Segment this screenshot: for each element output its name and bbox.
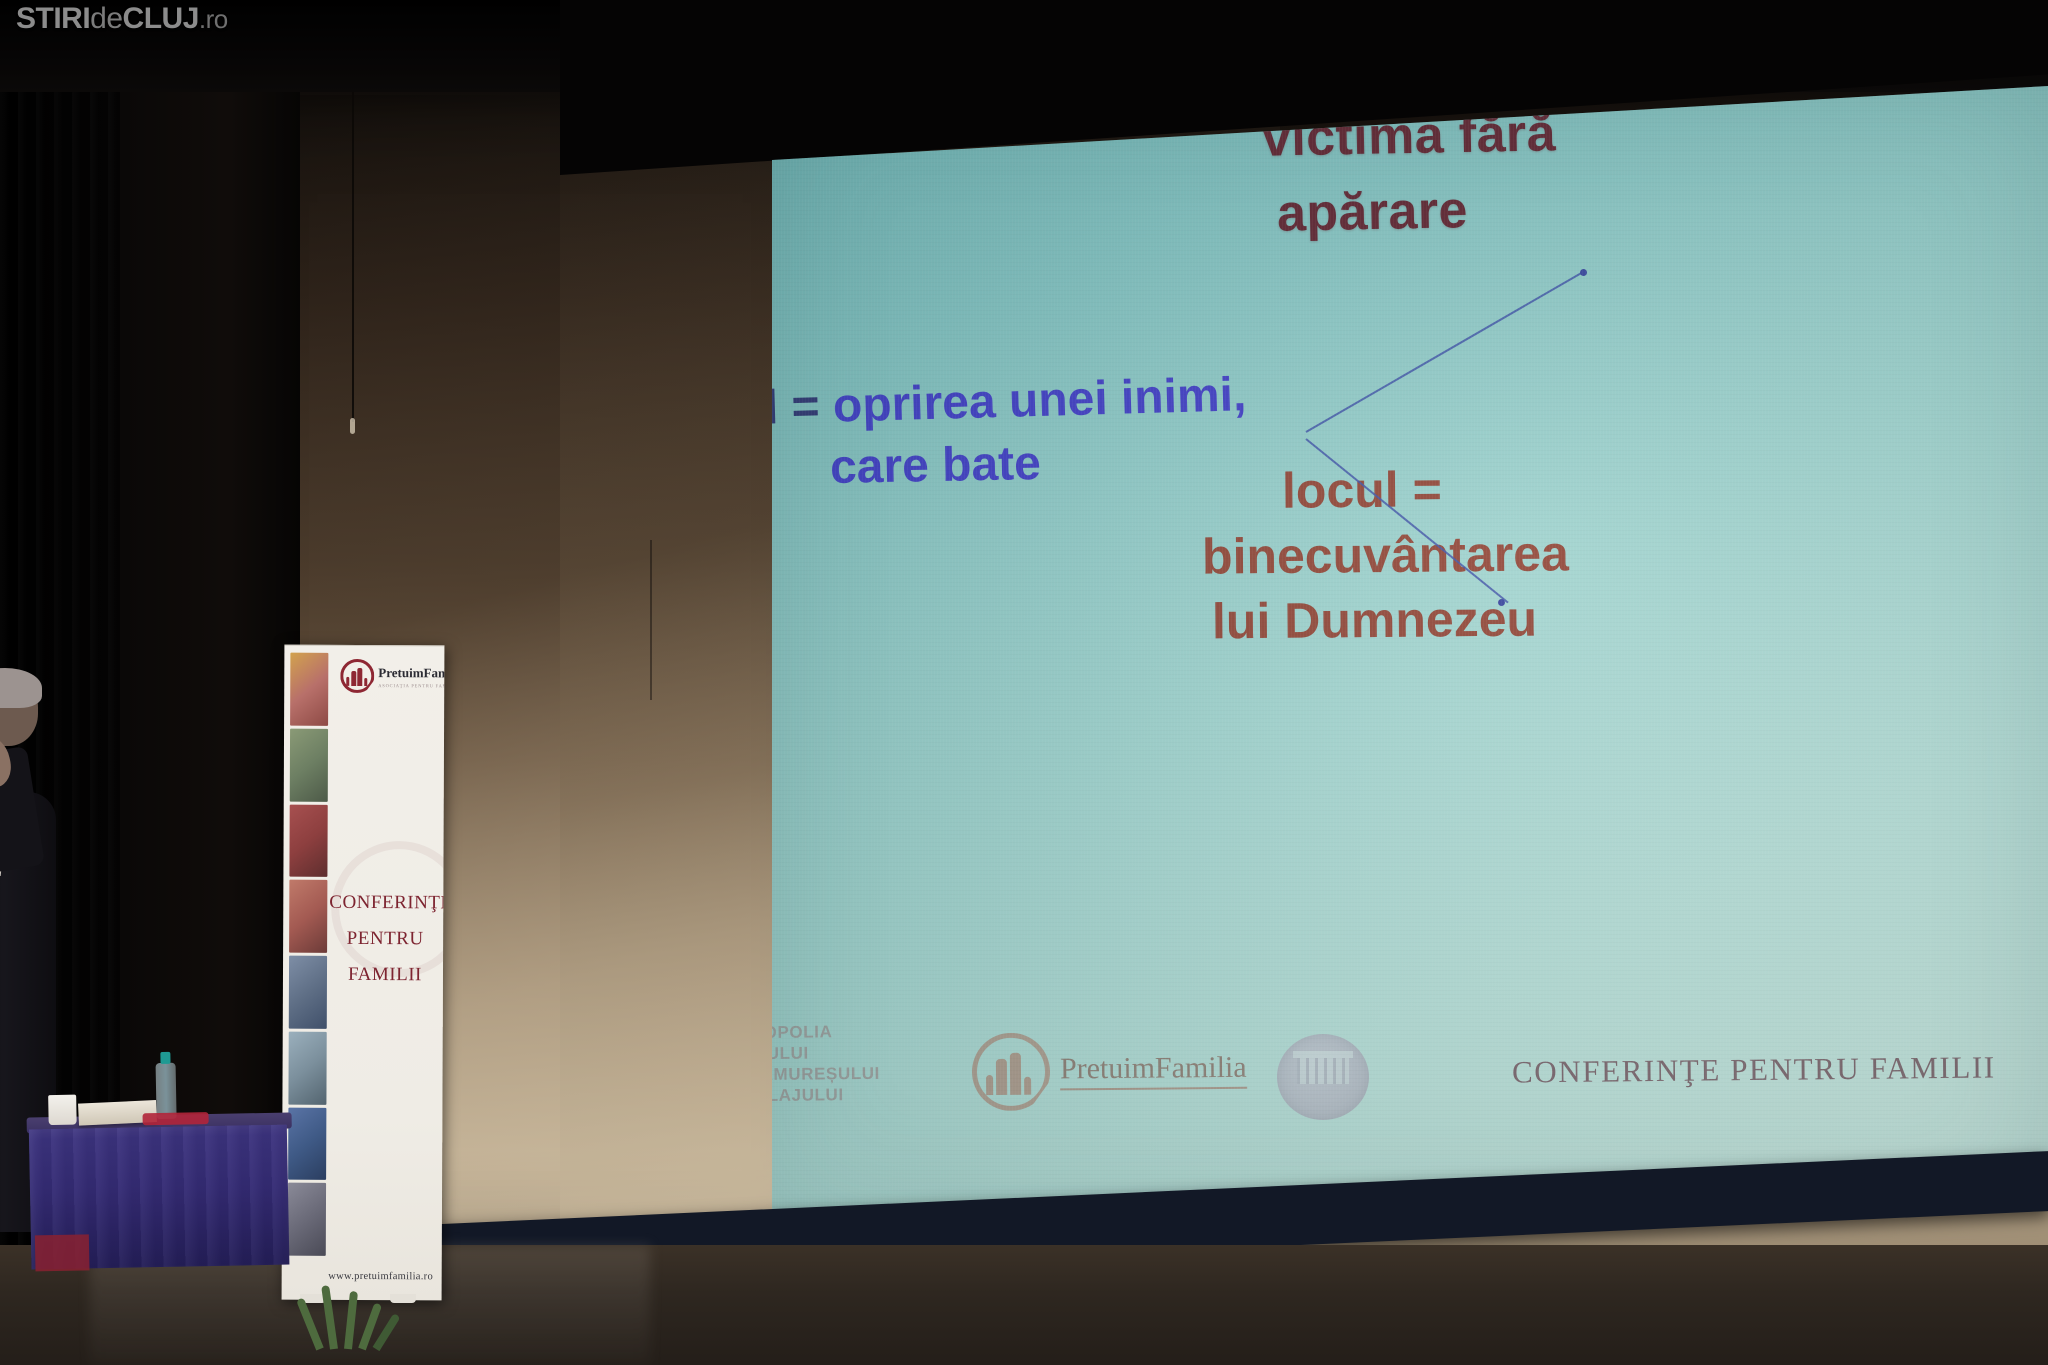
pretuim-familia-logo-slide: PretuimFamilia: [972, 1031, 1247, 1111]
family-circle-icon: [972, 1033, 1051, 1112]
speaker-hair: [0, 668, 42, 708]
table-red-skirt: [35, 1234, 90, 1271]
hanging-cord-2: [272, 96, 274, 292]
banner-photo: [290, 653, 328, 726]
banner-logo-subtitle: ASOCIAŢIA PENTRU FAMILII: [378, 683, 444, 688]
connector-dot-down: [1498, 599, 1505, 606]
banner-logo-wordmark: PretuimFamilia: [378, 665, 444, 680]
table-water-bottle: [156, 1063, 177, 1119]
table-red-item: [143, 1112, 209, 1125]
banner-photo: [289, 956, 327, 1029]
slide-main-line1-predicate: oprirea unei inimi,: [832, 368, 1247, 433]
presenter-table: [27, 1112, 295, 1269]
connector-dot-up: [1580, 269, 1587, 276]
seal-icon: [1277, 1034, 1369, 1120]
banner-photo: [289, 880, 327, 953]
banner-title-line-3: FAMILII: [329, 957, 441, 994]
banner-photo-strip: [288, 653, 329, 1256]
watermark-part-2: de: [90, 2, 122, 35]
watermark-part-4: .ro: [199, 4, 228, 34]
banner-photo: [288, 1031, 326, 1104]
banner-photo: [289, 804, 327, 877]
slide-branch-bottom-line1: locul =: [1282, 460, 1442, 519]
hanging-cord-1: [352, 92, 354, 422]
banner-logo-text-group: PretuimFamilia ASOCIAŢIA PENTRU FAMILII: [378, 664, 444, 688]
site-watermark: STIRIdeCLUJ.ro: [16, 2, 228, 36]
watermark-part-3: CLUJ: [123, 2, 199, 35]
slide-branch-bottom-line3: lui Dumnezeu: [1212, 590, 1538, 651]
banner-family-circle-icon: [340, 659, 374, 693]
connector-line-up: [1306, 271, 1584, 433]
hanging-cord-tip-1: [350, 418, 355, 434]
slide-branch-top-line2: apărare: [1276, 180, 1468, 243]
slide-branch-bottom-line2: binecuvântarea: [1202, 524, 1569, 585]
slide-footer-caption: CONFERINŢE PENTRU FAMILII: [1512, 1049, 1996, 1090]
banner-title-line-2: PENTRU: [329, 921, 441, 958]
banner-title-line-1: CONFERINŢE: [329, 885, 441, 922]
banner-top-rail: [282, 645, 445, 647]
slide-footer: MITROPOLIA CLUJULUI MARAMUREȘULUI ȘI SĂL…: [772, 1004, 2048, 1164]
table-cup: [48, 1095, 77, 1126]
photograph-frame: victima fără apărare Avortul = oprirea u…: [0, 0, 2048, 1365]
watermark-part-1: STIRI: [16, 2, 90, 35]
projection-screen: victima fără apărare Avortul = oprirea u…: [772, 86, 2048, 1216]
banner-pretuim-familia-logo: PretuimFamilia ASOCIAŢIA PENTRU FAMILII: [340, 659, 444, 694]
slide-main-line2: care bate: [829, 436, 1041, 495]
hanging-cord-3: [650, 540, 652, 700]
institution-seal-logo: [1277, 1034, 1369, 1120]
pretuim-familia-wordmark: PretuimFamilia: [1060, 1051, 1247, 1091]
banner-photo: [290, 728, 328, 801]
presentation-slide: victima fără apărare Avortul = oprirea u…: [772, 86, 2048, 1216]
banner-photo: [288, 1107, 326, 1180]
rollup-banner: PretuimFamilia ASOCIAŢIA PENTRU FAMILII …: [282, 645, 445, 1301]
decorative-plant: [296, 1279, 406, 1349]
banner-title: CONFERINŢE PENTRU FAMILII: [329, 885, 441, 994]
